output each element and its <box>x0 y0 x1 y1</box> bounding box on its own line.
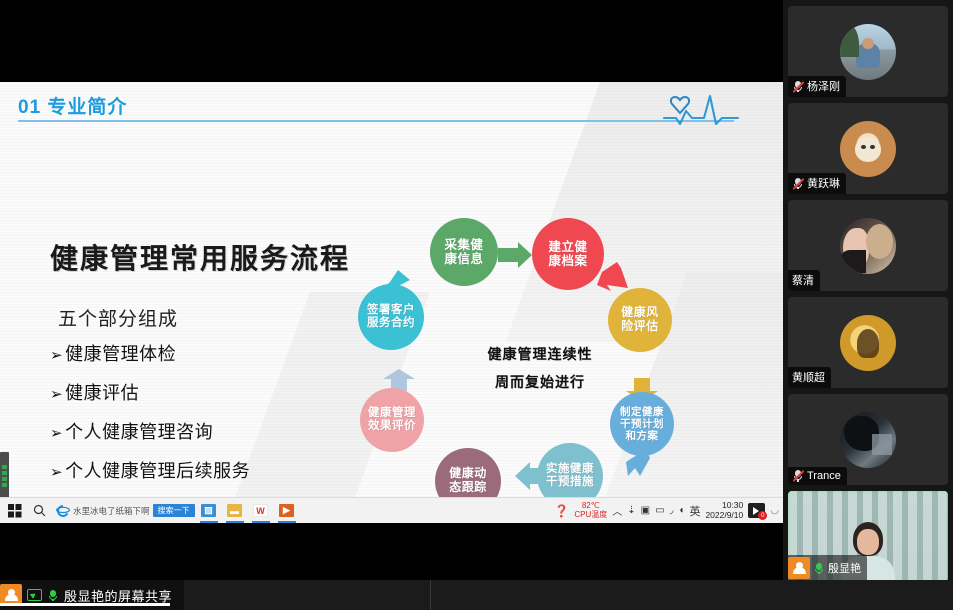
recorder-badge: 0 <box>758 511 767 520</box>
widget-indicator <box>2 483 7 487</box>
clock-date: 2022/9/10 <box>705 511 743 521</box>
avatar <box>840 315 896 371</box>
cycle-node-effect-evaluation[interactable]: 健康管理 效果评价 <box>360 388 424 452</box>
node-line: 健康动 <box>449 467 487 481</box>
screen-recorder-button[interactable]: 0 <box>748 503 765 518</box>
battery-icon[interactable]: ▭ <box>655 505 664 516</box>
participant-tile[interactable]: 蔡清 <box>788 200 948 291</box>
node-line: 和方案 <box>620 430 664 442</box>
avatar <box>840 412 896 468</box>
participant-tile[interactable]: 黄跃琳 <box>788 103 948 194</box>
video-person-face <box>857 529 879 555</box>
help-icon[interactable]: ❓ <box>554 504 569 518</box>
participant-tile[interactable]: Trance <box>788 394 948 485</box>
participant-nametag: Trance <box>788 467 847 485</box>
edge-toolbar-widget[interactable] <box>0 452 9 500</box>
cycle-node-create-health-record[interactable]: 建立健 康档案 <box>532 218 604 290</box>
node-line: 效果评价 <box>368 420 416 433</box>
file-explorer-glyph: ▬ <box>227 504 242 517</box>
bullet-arrow-icon: ➢ <box>50 463 63 481</box>
avatar <box>840 218 896 274</box>
powerpoint-glyph: ▶ <box>279 504 294 517</box>
slide-main-heading: 健康管理常用服务流程 <box>50 237 350 277</box>
cpu-temp-label: CPU温度 <box>574 511 607 519</box>
show-desktop-icon[interactable]: ◡ <box>770 505 779 516</box>
node-line: 采集健 <box>444 238 483 252</box>
node-line: 险评估 <box>621 320 659 334</box>
microphone-on-icon <box>47 589 59 602</box>
bottom-bar-divider <box>430 580 431 610</box>
app-active-underline <box>200 521 218 523</box>
node-line: 健康管理 <box>368 407 416 420</box>
ie-suggestion-text: 水里冰电了纸箱下啊 <box>73 505 150 517</box>
participant-nametag: 杨泽刚 <box>788 76 846 97</box>
ime-language-indicator[interactable]: 英 <box>689 503 700 519</box>
meeting-screen-share-window: 01 专业简介 健康管理常用服务流程 五个部分组成 ➢ 健康管理体检 <box>0 0 953 610</box>
node-line: 康档案 <box>548 254 587 268</box>
screen-share-icon <box>27 589 42 601</box>
list-item-label: 个人健康管理咨询 <box>65 418 213 444</box>
widget-indicator <box>2 465 7 469</box>
cycle-node-sign-service-contract[interactable]: 签署客户 服务合约 <box>358 284 424 350</box>
internet-explorer-icon[interactable] <box>56 504 70 518</box>
node-line: 服务合约 <box>367 317 415 330</box>
list-item: ➢ 健康管理体检 <box>50 340 390 366</box>
app-active-underline <box>226 521 244 523</box>
bottom-scroll-indicator[interactable] <box>0 603 170 606</box>
center-line-2: 周而复始进行 <box>430 368 650 396</box>
participant-tile[interactable]: 黄顺超 <box>788 297 948 388</box>
list-item-label: 健康管理体检 <box>65 340 176 366</box>
presentation-slide[interactable]: 01 专业简介 健康管理常用服务流程 五个部分组成 ➢ 健康管理体检 <box>0 82 783 497</box>
app-active-underline <box>252 521 270 523</box>
slide-section-title: 01 专业简介 <box>18 92 748 119</box>
photos-app[interactable]: ▨ <box>197 499 221 523</box>
cpu-temperature-indicator[interactable]: 82℃ CPU温度 <box>574 502 607 519</box>
node-line: 制定健康 <box>620 406 664 418</box>
avatar <box>840 24 896 80</box>
powerpoint-app[interactable]: ▶ <box>275 499 299 523</box>
slide-header: 01 专业简介 <box>18 92 748 119</box>
cycle-center-annotation: 健康管理连续性 周而复始进行 <box>430 340 650 396</box>
file-explorer-app[interactable]: ▬ <box>223 499 247 523</box>
participant-nametag: 黄跃琳 <box>788 173 846 194</box>
ie-search-suggestion[interactable]: 水里冰电了纸箱下啊 搜索一下 <box>56 504 195 518</box>
node-line: 实施健康 <box>546 463 594 476</box>
center-line-1: 健康管理连续性 <box>430 340 650 368</box>
windows-start-icon[interactable] <box>4 500 26 522</box>
taskbar-clock[interactable]: 10:30 2022/9/10 <box>705 501 743 521</box>
volume-icon[interactable]: ◖ <box>678 505 684 516</box>
node-line: 干预措施 <box>546 476 594 489</box>
title-underline <box>18 120 734 122</box>
node-line: 健康风 <box>621 306 659 320</box>
wifi-icon[interactable]: ◞ <box>670 505 674 516</box>
microphone-muted-icon <box>792 469 804 482</box>
chevron-up-icon[interactable]: ︿ <box>612 503 622 518</box>
photos-app-glyph: ▨ <box>201 504 216 517</box>
bullet-arrow-icon: ➢ <box>50 424 63 442</box>
widget-indicator <box>2 477 7 481</box>
node-line: 康信息 <box>444 252 483 266</box>
list-item: ➢ 健康评估 <box>50 379 390 405</box>
microphone-on-icon <box>813 562 825 575</box>
participant-nametag: 黄顺超 <box>788 367 831 388</box>
participant-name: Trance <box>807 470 841 482</box>
heart-ecg-icon <box>662 88 740 133</box>
participant-name: 蔡清 <box>792 272 814 288</box>
participant-tile[interactable]: 杨泽刚 <box>788 6 948 97</box>
health-management-cycle-diagram: 采集健 康信息 建立健 康档案 健康风 险评估 <box>340 200 740 497</box>
list-item-label: 健康评估 <box>65 379 139 405</box>
widget-indicator <box>2 471 7 475</box>
list-item: ➢ 个人健康管理后续服务 <box>50 457 390 483</box>
wps-glyph: W <box>253 504 268 517</box>
shared-screen-area[interactable]: 01 专业简介 健康管理常用服务流程 五个部分组成 ➢ 健康管理体检 <box>0 0 783 580</box>
participant-nametag: 蔡清 <box>788 270 820 291</box>
search-icon[interactable] <box>28 500 50 522</box>
node-line: 建立健 <box>548 240 587 254</box>
screen-share-label: 殷显艳的屏幕共享 <box>64 586 172 605</box>
node-line: 签署客户 <box>367 304 415 317</box>
slide-sub-heading: 五个部分组成 <box>58 304 178 331</box>
participant-name: 杨泽刚 <box>807 78 840 94</box>
node-line: 干预计划 <box>620 418 664 430</box>
participant-name: 殷显艳 <box>828 560 861 576</box>
participant-tile-self-active[interactable]: 殷显艳 <box>788 491 948 582</box>
bullet-arrow-icon: ➢ <box>50 385 63 403</box>
user-avatar-icon <box>788 557 810 579</box>
node-line: 态跟踪 <box>449 481 487 495</box>
avatar <box>840 121 896 177</box>
participant-name: 黄顺超 <box>792 369 825 385</box>
microphone-muted-icon <box>792 177 804 190</box>
cycle-node-intervention-plan[interactable]: 制定健康 干预计划 和方案 <box>610 392 674 456</box>
participant-name: 黄跃琳 <box>807 175 840 191</box>
microphone-muted-icon <box>792 80 804 93</box>
ie-search-button[interactable]: 搜索一下 <box>153 504 195 517</box>
download-icon[interactable]: ⇣ <box>627 505 635 516</box>
list-item-label: 个人健康管理后续服务 <box>65 457 250 483</box>
wps-office-app[interactable]: W <box>249 499 273 523</box>
windows-taskbar[interactable]: 水里冰电了纸箱下啊 搜索一下 ▨ ▬ W ▶ <box>0 497 783 523</box>
slide-bullet-list: ➢ 健康管理体检 ➢ 健康评估 ➢ 个人健康管理咨询 ➢ 个人健康管理后续服务 … <box>50 340 390 497</box>
participant-nametag: 殷显艳 <box>788 555 867 582</box>
security-icon[interactable]: ▣ <box>641 505 650 516</box>
bullet-arrow-icon: ➢ <box>50 346 63 364</box>
list-item: ➢ 个人健康管理咨询 <box>50 418 390 444</box>
app-active-underline <box>278 521 296 523</box>
cycle-node-collect-health-info[interactable]: 采集健 康信息 <box>430 218 498 286</box>
participant-video-strip[interactable]: 杨泽刚 黄跃琳 蔡清 <box>783 0 953 580</box>
